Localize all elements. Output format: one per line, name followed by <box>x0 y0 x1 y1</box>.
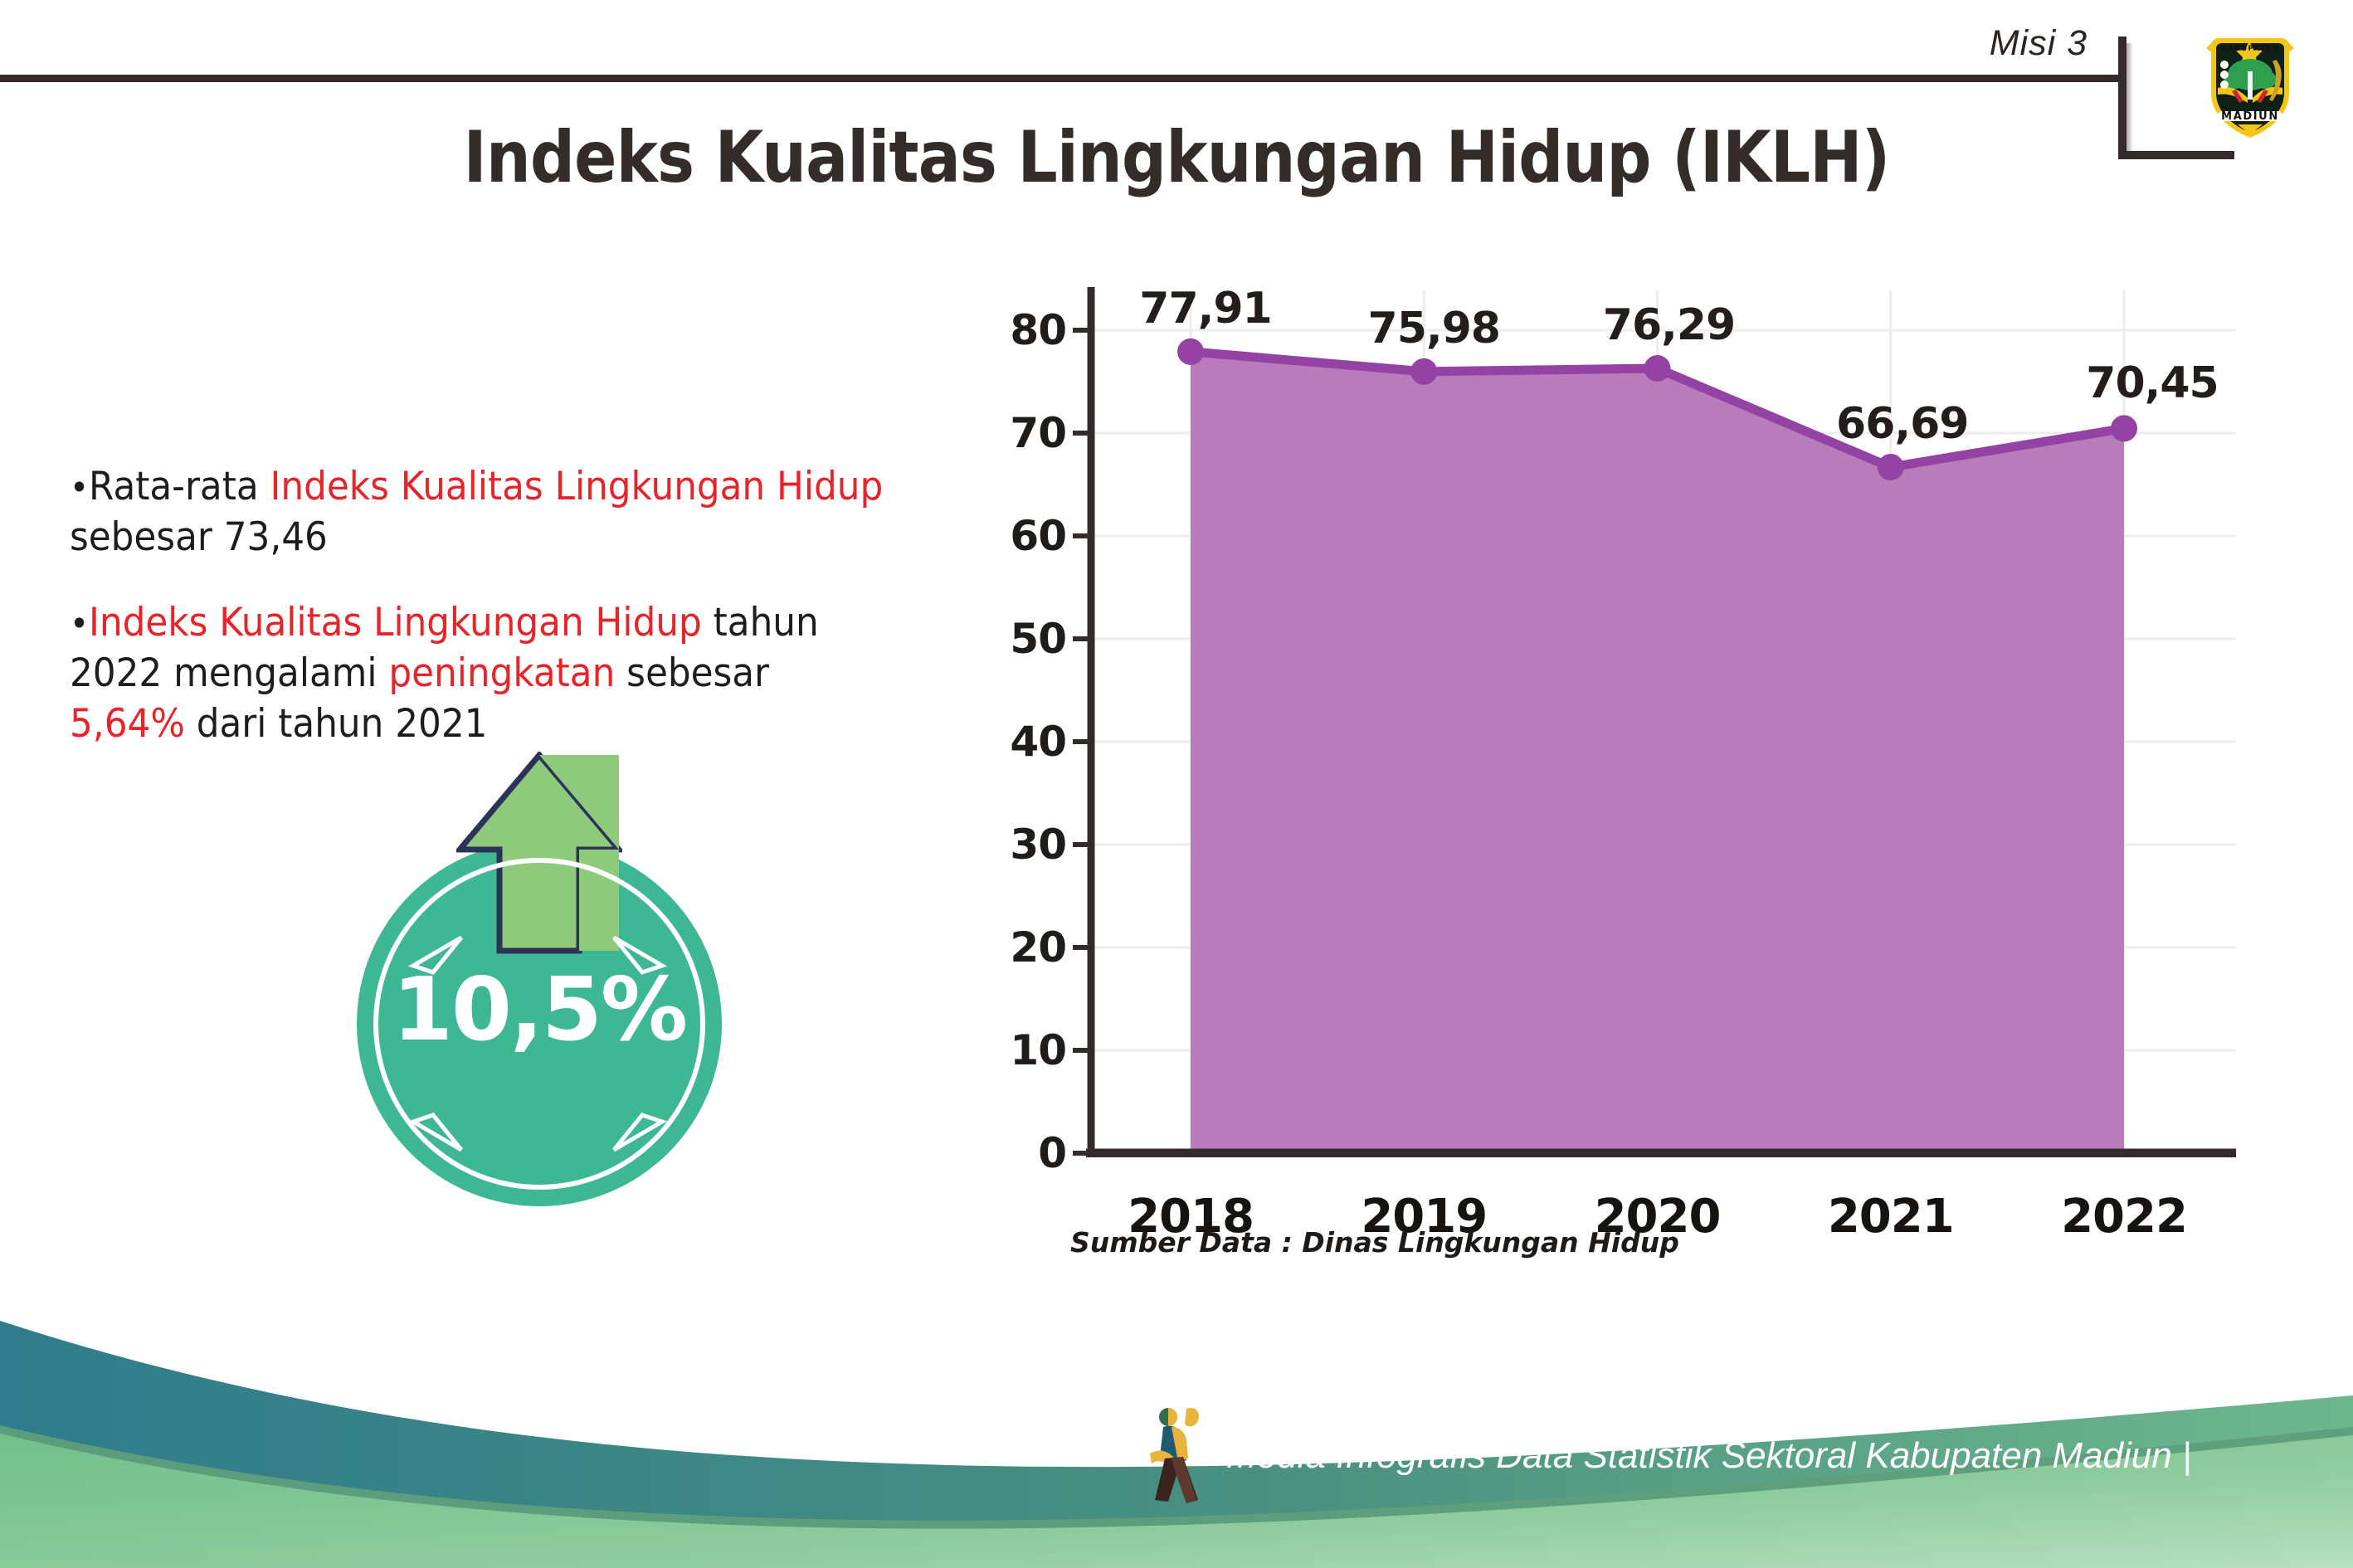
y-axis-tick-label: 20 <box>967 923 1066 971</box>
bullet-dot-icon: • <box>70 603 89 644</box>
svg-text:MADIUN: MADIUN <box>2221 110 2279 123</box>
data-point-label: 76,29 <box>1603 300 1735 350</box>
iklh-area-chart: 010203040506070802018201920202021202277,… <box>1066 282 2244 1157</box>
data-point-marker <box>1410 358 1437 385</box>
up-arrow-icon <box>456 752 622 959</box>
data-point-marker <box>2111 415 2137 441</box>
data-point-label: 70,45 <box>2086 358 2218 408</box>
bullet-text: dari tahun 2021 <box>185 701 488 747</box>
y-axis-tick-label: 10 <box>967 1026 1066 1074</box>
data-point-label: 75,98 <box>1368 304 1500 353</box>
data-point-label: 66,69 <box>1836 399 1968 449</box>
growth-badge: 10,5% <box>330 752 748 1205</box>
chart-canvas <box>1066 282 2244 1157</box>
y-axis-tick-label: 40 <box>967 718 1066 766</box>
bullet-item: •Rata-rata Indeks Kualitas Lingkungan Hi… <box>70 461 888 562</box>
bullet-highlight-text: 5,64% <box>70 701 185 747</box>
badge-value: 10,5% <box>357 959 722 1060</box>
misi-label: Misi 3 <box>1990 23 2087 64</box>
x-axis-tick-label: 2021 <box>1800 1190 1982 1244</box>
y-axis-tick-label: 0 <box>967 1129 1066 1177</box>
header-divider-line <box>0 75 2121 82</box>
bullet-list: •Rata-rata Indeks Kualitas Lingkungan Hi… <box>70 461 949 784</box>
bullet-highlight-text: Indeks Kualitas Lingkungan Hidup <box>89 600 702 645</box>
bullet-highlight-text: peningkatan <box>388 650 615 696</box>
y-axis-tick-label: 30 <box>967 821 1066 869</box>
bullet-item: •Indeks Kualitas Lingkungan Hidup tahun … <box>70 597 888 749</box>
page-title: Indeks Kualitas Lingkungan Hidup (IKLH) <box>141 116 2212 199</box>
bullet-text: Rata-rata <box>89 464 270 509</box>
area-fill <box>1191 352 2124 1153</box>
data-point-label: 77,91 <box>1139 284 1271 334</box>
y-axis-tick-label: 50 <box>967 615 1066 663</box>
bullet-dot-icon: • <box>70 467 89 508</box>
y-axis-tick-label: 70 <box>967 409 1066 457</box>
y-axis-tick-label: 60 <box>967 512 1066 560</box>
triangle-spark-icon <box>407 1112 465 1155</box>
svg-text:KABUPATEN: KABUPATEN <box>2221 45 2280 53</box>
triangle-spark-icon <box>611 1112 669 1155</box>
footer-text: Media Infografis Data Statistik Sektoral… <box>1226 1435 2191 1477</box>
bullet-text: sebesar 73,46 <box>70 514 328 560</box>
x-axis-tick-label: 2022 <box>2033 1190 2215 1244</box>
source-note: Sumber Data : Dinas Lingkungan Hidup <box>1070 1226 1679 1259</box>
kabupaten-madiun-seal-icon: MADIUN KABUPATEN <box>2196 17 2304 141</box>
data-point-marker <box>1878 454 1904 480</box>
data-point-marker <box>1644 355 1671 382</box>
y-axis-tick-label: 80 <box>967 306 1066 354</box>
bullet-highlight-text: Indeks Kualitas Lingkungan Hidup <box>270 464 884 509</box>
bullet-text: sebesar <box>615 650 769 696</box>
data-point-marker <box>1177 338 1204 365</box>
statistics-person-icon <box>1143 1404 1216 1503</box>
